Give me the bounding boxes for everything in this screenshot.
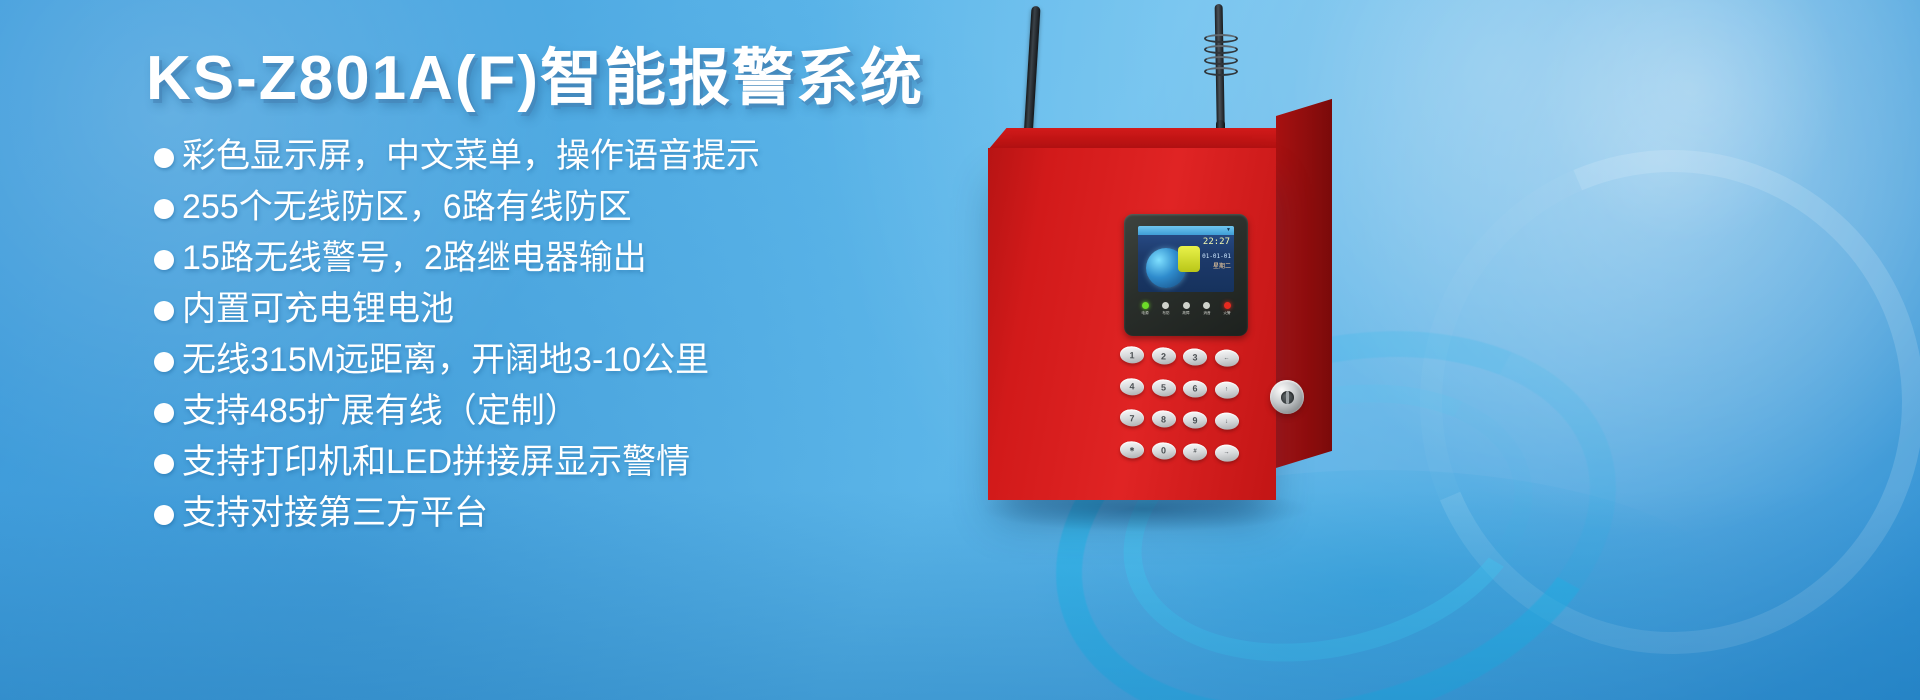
cabinet-top-face <box>988 128 1294 150</box>
feature-text: 支持对接第三方平台 <box>182 496 488 530</box>
bullet-icon <box>154 199 174 219</box>
key-star[interactable]: ✱ <box>1120 440 1144 458</box>
antenna-coil-icon <box>1204 34 1234 68</box>
feature-text: 15路无线警号，2路继电器输出 <box>182 241 647 275</box>
key-8[interactable]: 8 <box>1152 410 1176 428</box>
key-lock-icon[interactable] <box>1270 380 1304 414</box>
key-6[interactable]: 6 <box>1183 380 1207 398</box>
bullet-icon <box>154 148 174 168</box>
led-icon <box>1203 302 1210 309</box>
feature-list: 彩色显示屏，中文菜单，操作语音提示 255个无线防区，6路有线防区 15路无线警… <box>154 139 1046 530</box>
key-5[interactable]: 5 <box>1152 379 1176 397</box>
led-label: 布防 <box>1162 311 1169 315</box>
status-indicator-power: 电源 <box>1136 302 1154 315</box>
led-icon <box>1162 302 1169 309</box>
key-7[interactable]: 7 <box>1120 409 1144 427</box>
bullet-icon <box>154 301 174 321</box>
list-item: 彩色显示屏，中文菜单，操作语音提示 <box>154 139 1046 173</box>
led-icon <box>1183 302 1190 309</box>
bullet-icon <box>154 352 174 372</box>
feature-text: 支持485扩展有线（定制） <box>182 394 579 428</box>
status-indicator-armed: 布防 <box>1157 302 1175 315</box>
lcd-status-bar: ▼ <box>1138 226 1234 235</box>
list-item: 15路无线警号，2路继电器输出 <box>154 241 1046 275</box>
key-2[interactable]: 2 <box>1152 347 1176 365</box>
key-9[interactable]: 9 <box>1183 411 1207 429</box>
background-circle-top-right <box>1540 0 1840 240</box>
list-item: 支持对接第三方平台 <box>154 496 1046 530</box>
led-icon <box>1142 302 1149 309</box>
display-bezel: ▼ 22:27 01-01-01 星期二 电源 布防 <box>1124 214 1248 336</box>
key-back[interactable]: ← <box>1215 349 1239 367</box>
signal-icon: ▼ <box>1226 228 1231 233</box>
led-label: 电源 <box>1141 311 1148 315</box>
feature-text: 彩色显示屏，中文菜单，操作语音提示 <box>182 139 760 173</box>
bullet-icon <box>154 505 174 525</box>
lcd-time: 22:27 <box>1203 238 1230 248</box>
feature-text: 255个无线防区，6路有线防区 <box>182 190 632 224</box>
feature-text: 内置可充电锂电池 <box>182 292 454 326</box>
feature-text: 无线315M远距离，开阔地3-10公里 <box>182 343 709 377</box>
product-banner: KS-Z801A(F)智能报警系统 彩色显示屏，中文菜单，操作语音提示 255个… <box>0 0 1920 700</box>
key-up[interactable]: ↑ <box>1215 381 1239 399</box>
list-item: 无线315M远距离，开阔地3-10公里 <box>154 343 1046 377</box>
lcd-weekday: 星期二 <box>1213 264 1231 271</box>
list-item: 支持485扩展有线（定制） <box>154 394 1046 428</box>
key-1[interactable]: 1 <box>1120 346 1144 364</box>
key-4[interactable]: 4 <box>1120 377 1144 395</box>
page-title: KS-Z801A(F)智能报警系统 <box>146 46 1046 111</box>
status-indicator-fire: 火警 <box>1218 302 1236 315</box>
keypad[interactable]: 1 2 3 ← 4 5 6 ↑ 7 8 9 ↓ ✱ 0 # → <box>1120 346 1240 470</box>
key-down[interactable]: ↓ <box>1215 412 1239 430</box>
key-0[interactable]: 0 <box>1152 442 1176 460</box>
key-3[interactable]: 3 <box>1183 348 1207 366</box>
lcd-key-graphic <box>1178 246 1200 272</box>
key-hash[interactable]: # <box>1183 443 1207 461</box>
feature-text: 支持打印机和LED拼接屏显示警情 <box>182 445 690 479</box>
led-label: 火警 <box>1223 311 1230 315</box>
led-label: 故障 <box>1182 311 1189 315</box>
cabinet-front-face: ▼ 22:27 01-01-01 星期二 电源 布防 <box>988 148 1276 500</box>
list-item: 255个无线防区，6路有线防区 <box>154 190 1046 224</box>
copy-block: KS-Z801A(F)智能报警系统 彩色显示屏，中文菜单，操作语音提示 255个… <box>146 46 1046 547</box>
led-icon <box>1224 302 1231 309</box>
list-item: 内置可充电锂电池 <box>154 292 1046 326</box>
bullet-icon <box>154 403 174 423</box>
led-label: 消音 <box>1203 311 1210 315</box>
status-indicator-mute: 消音 <box>1198 302 1216 315</box>
key-enter[interactable]: → <box>1215 444 1239 462</box>
led-indicator-row: 电源 布防 故障 消音 <box>1136 302 1236 328</box>
bullet-icon <box>154 250 174 270</box>
status-indicator-fault: 故障 <box>1177 302 1195 315</box>
alarm-control-panel: ▼ 22:27 01-01-01 星期二 电源 布防 <box>940 0 1500 700</box>
lcd-screen[interactable]: ▼ 22:27 01-01-01 星期二 <box>1138 226 1234 292</box>
lcd-date: 01-01-01 <box>1202 254 1231 261</box>
bullet-icon <box>154 454 174 474</box>
list-item: 支持打印机和LED拼接屏显示警情 <box>154 445 1046 479</box>
lock-keyhole-icon <box>1286 391 1289 404</box>
